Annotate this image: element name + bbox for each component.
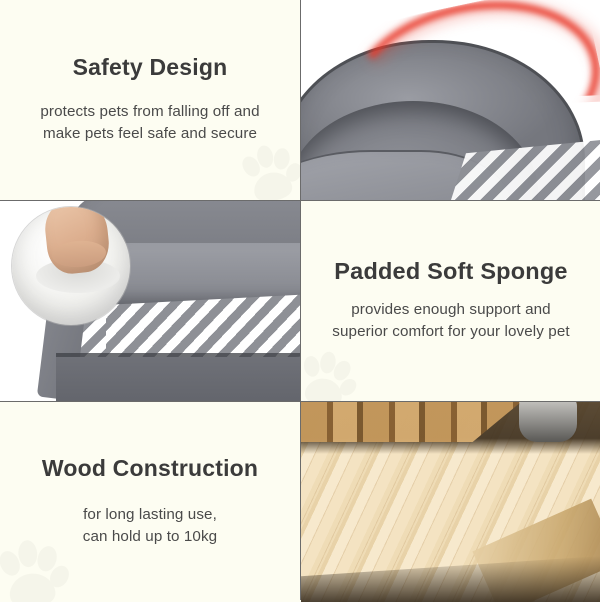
photo-bed-curved-back — [301, 0, 600, 200]
sponge-heading: Padded Soft Sponge — [334, 259, 567, 285]
safety-body-line-1: protects pets from falling off and — [40, 101, 259, 123]
panel-padded-soft-sponge: Padded Soft Sponge provides enough suppo… — [301, 201, 600, 401]
bed-base — [56, 357, 300, 401]
safety-body-line-2: make pets feel safe and secure — [43, 123, 257, 145]
wood-heading: Wood Construction — [42, 456, 258, 481]
sponge-body-line-2: superior comfort for your lovely pet — [332, 321, 569, 343]
wood-body-line-1: for long lasting use, — [83, 504, 217, 526]
workshop-bucket — [519, 402, 577, 442]
paw-print-icon — [0, 528, 78, 602]
panel-safety-design: Safety Design protects pets from falling… — [0, 0, 300, 200]
photo-bed-foam-detail — [0, 201, 300, 401]
safety-heading: Safety Design — [73, 55, 228, 80]
paw-print-icon — [301, 339, 367, 401]
photo-wood-planks — [301, 402, 600, 602]
sponge-body-line-1: provides enough support and — [351, 299, 550, 321]
infographic-grid: Safety Design protects pets from falling… — [0, 0, 600, 600]
panel-wood-construction: Wood Construction for long lasting use, … — [0, 402, 300, 602]
wood-body-line-2: can hold up to 10kg — [83, 526, 217, 548]
foam-detail-inset — [12, 207, 130, 325]
